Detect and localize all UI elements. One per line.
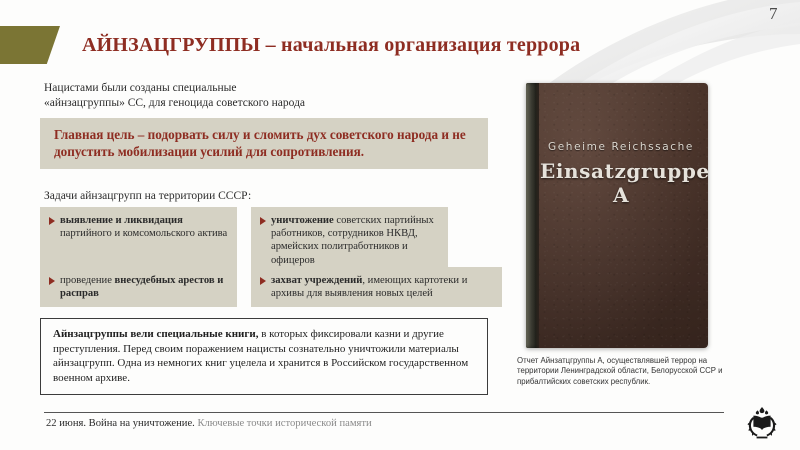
task-card: выявление и ликвидация партийного и комс… bbox=[40, 207, 237, 274]
arrow-bullet-icon bbox=[260, 217, 266, 225]
intro-line-1: Нацистами были созданы специальные bbox=[44, 81, 464, 96]
task-card-text: уничтожение советских партийных работник… bbox=[271, 214, 440, 267]
page-number: 7 bbox=[769, 4, 778, 24]
slide-canvas: 7 АЙНЗАЦГРУППЫ – начальная организация т… bbox=[0, 0, 800, 450]
task-card-text: проведение внесудебных арестов и расправ bbox=[60, 274, 229, 300]
page-title: АЙНЗАЦГРУППЫ – начальная организация тер… bbox=[82, 34, 580, 57]
task-card: захват учреждений, имеющих картотеки и а… bbox=[251, 267, 502, 307]
footer-text-muted: Ключевые точки исторической памяти bbox=[195, 418, 372, 429]
slide-title-row: АЙНЗАЦГРУППЫ – начальная организация тер… bbox=[0, 26, 800, 64]
book-photo: Geheime Reichssache Einsatzgruppe A bbox=[526, 83, 708, 348]
arrow-bullet-icon bbox=[49, 217, 55, 225]
photo-caption: Отчет Айнзатцгруппы А, осуществлявшей те… bbox=[517, 356, 732, 387]
intro-line-2: «айнзацгруппы» СС, для геноцида советско… bbox=[44, 96, 464, 111]
book-title-line-1: Geheime Reichssache bbox=[540, 141, 702, 153]
task-card: уничтожение советских партийных работник… bbox=[251, 207, 448, 274]
task-rest: партийного и комсомольского актива bbox=[60, 228, 227, 239]
arrow-bullet-icon bbox=[49, 277, 55, 285]
main-goal-callout: Главная цель – подорвать силу и сломить … bbox=[40, 118, 488, 169]
note-bold-lead: Айнзацгруппы вели специальные книги, bbox=[53, 328, 258, 340]
book-title-line-2: Einsatzgruppe A bbox=[540, 159, 702, 207]
task-card: проведение внесудебных арестов и расправ bbox=[40, 267, 237, 307]
title-accent-tab bbox=[0, 26, 60, 64]
footer-text-bold: 22 июня. Война на уничтожение. bbox=[46, 418, 195, 429]
task-card-text: захват учреждений, имеющих картотеки и а… bbox=[271, 274, 494, 300]
open-book-laurel-emblem-icon bbox=[742, 404, 782, 444]
intro-paragraph: Нацистами были созданы специальные «айнз… bbox=[44, 81, 464, 111]
book-spine bbox=[526, 83, 539, 348]
task-card-text: выявление и ликвидация партийного и комс… bbox=[60, 214, 229, 240]
book-cover: Geheime Reichssache Einsatzgruppe A bbox=[526, 83, 708, 348]
footer-text: 22 июня. Война на уничтожение. Ключевые … bbox=[46, 418, 372, 429]
footer-divider bbox=[44, 412, 724, 413]
task-bold: захват учреждений bbox=[271, 275, 362, 286]
task-bold: уничтожение bbox=[271, 215, 334, 226]
tasks-grid-row-1: выявление и ликвидация партийного и комс… bbox=[40, 207, 488, 274]
task-bold: выявление и ликвидация bbox=[60, 215, 183, 226]
task-prefix: проведение bbox=[60, 275, 115, 286]
note-box: Айнзацгруппы вели специальные книги, в к… bbox=[40, 318, 488, 395]
tasks-grid-row-2: проведение внесудебных арестов и расправ… bbox=[40, 267, 488, 307]
arrow-bullet-icon bbox=[260, 277, 266, 285]
tasks-label: Задачи айнзацгрупп на территории СССР: bbox=[44, 190, 251, 202]
book-cover-label: Geheime Reichssache Einsatzgruppe A bbox=[540, 141, 702, 207]
